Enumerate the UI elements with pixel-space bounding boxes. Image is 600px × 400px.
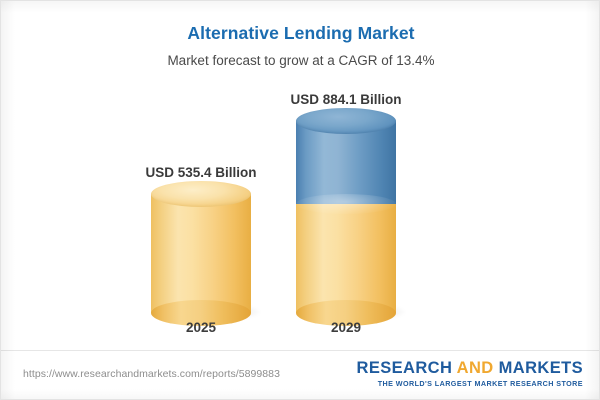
logo-wordmark: RESEARCH AND MARKETS [357,359,584,378]
axis-label-2029: 2029 [271,320,421,335]
bar-top-cap-2029 [296,108,396,134]
logo-word-research: RESEARCH [357,359,453,377]
bar-group-2025: USD 535.4 Billion 2025 [126,81,276,343]
chart-plot-area: USD 535.4 Billion 2025 USD 884.1 Billion [1,81,600,343]
market-forecast-infographic: Alternative Lending Market Market foreca… [0,0,600,400]
bar-group-2029: USD 884.1 Billion 2029 [271,81,421,343]
axis-label-2025: 2025 [126,320,276,335]
value-label-2029: USD 884.1 Billion [271,92,421,107]
brand-logo[interactable]: RESEARCH AND MARKETS THE WORLD'S LARGEST… [357,359,584,388]
bar-cylinder-2029[interactable] [296,121,396,313]
bar-top-cap-2025 [151,181,251,207]
report-url[interactable]: https://www.researchandmarkets.com/repor… [23,368,280,380]
value-label-2025: USD 535.4 Billion [126,165,276,180]
logo-tagline: THE WORLD'S LARGEST MARKET RESEARCH STOR… [357,379,584,388]
bar-segment-seam-2029 [296,194,396,214]
chart-subtitle: Market forecast to grow at a CAGR of 13.… [1,53,600,68]
footer: https://www.researchandmarkets.com/repor… [1,350,600,399]
bar-cylinder-2025[interactable] [151,194,251,313]
bar-segment-base-2025 [151,194,251,313]
bar-segment-base-2029 [296,204,396,313]
logo-word-markets: MARKETS [499,359,583,377]
logo-word-and: AND [457,359,494,377]
page-title: Alternative Lending Market [1,23,600,44]
